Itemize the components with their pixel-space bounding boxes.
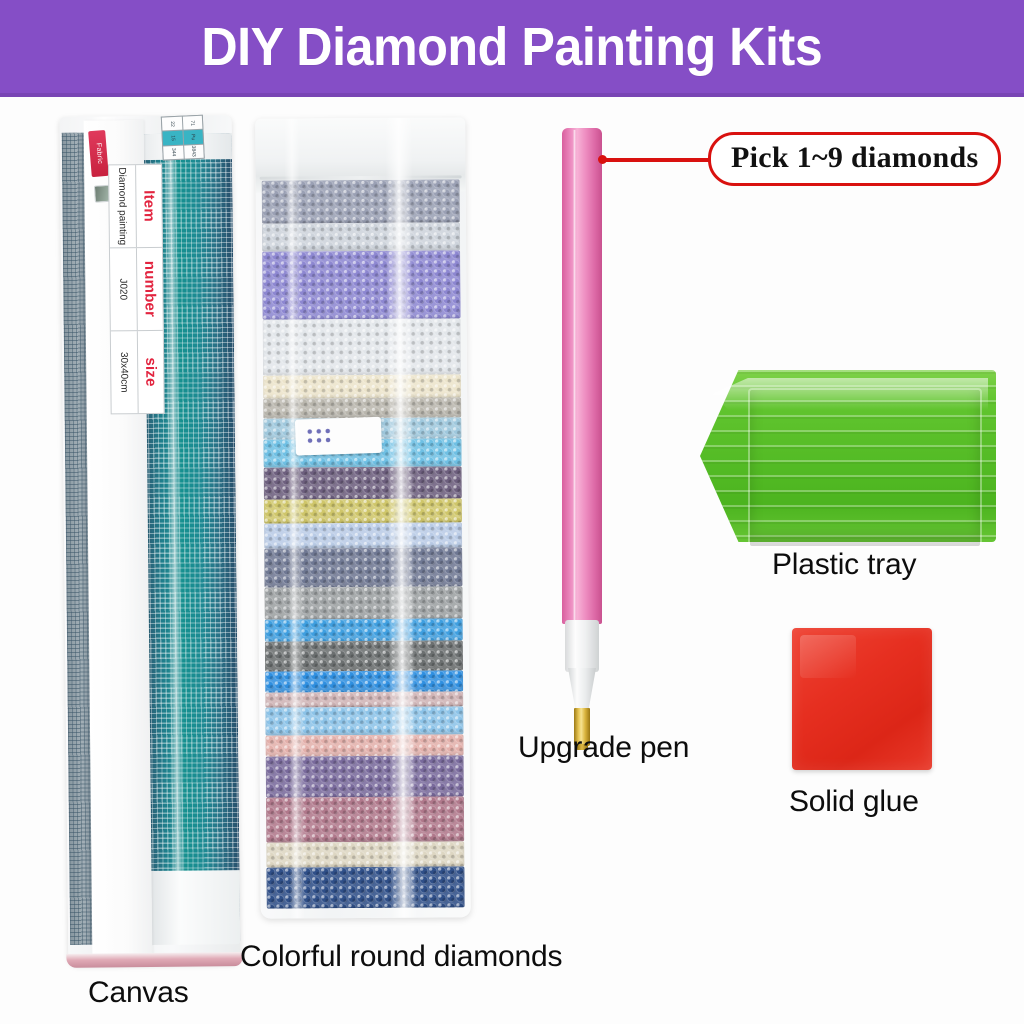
bead-row xyxy=(266,841,464,867)
product-canvas: Fabric 22 71 15 Pu 344 3843 Item Diamond… xyxy=(58,112,253,972)
bead-row xyxy=(265,641,463,672)
caption-canvas: Canvas xyxy=(88,976,189,1010)
bead-row xyxy=(266,735,464,757)
product-tray xyxy=(700,370,1000,570)
product-infographic: DIY Diamond Painting Kits Fabric 22 71 1… xyxy=(0,0,1024,1024)
callout-label: Pick 1~9 diamonds xyxy=(731,141,978,174)
color-chart-cell: Pu xyxy=(183,130,203,144)
caption-glue: Solid glue xyxy=(789,785,919,819)
caption-diamonds: Colorful round diamonds xyxy=(240,940,562,974)
bead-row xyxy=(264,547,462,588)
spec-value: 30x40cm xyxy=(111,331,138,413)
page-title: DIY Diamond Painting Kits xyxy=(202,16,823,78)
color-chart-cell: 3843 xyxy=(184,144,204,158)
sleeve-foot xyxy=(66,952,242,968)
product-diamonds xyxy=(258,118,478,938)
spec-column-item: Item Diamond painting xyxy=(109,165,162,249)
bead-row xyxy=(265,691,463,707)
color-chart-cell: 15 xyxy=(163,131,183,145)
pen-collar xyxy=(565,620,599,672)
tray-inner-edge xyxy=(748,388,982,548)
canvas-spec-table: Item Diamond painting number J020 size 3… xyxy=(108,164,165,415)
bead-row xyxy=(265,706,463,736)
tray-highlight xyxy=(712,378,988,410)
pen-barrel xyxy=(562,128,602,624)
header-banner: DIY Diamond Painting Kits xyxy=(0,0,1024,97)
spec-key: size xyxy=(137,331,164,413)
bead-row xyxy=(264,498,462,524)
bead-row xyxy=(262,251,460,320)
brand-tab: Fabric xyxy=(88,130,109,177)
callout-leader-line xyxy=(604,158,716,162)
bead-row xyxy=(266,755,464,798)
color-chart-cell: 71 xyxy=(182,116,202,130)
bead-row xyxy=(265,618,463,642)
spec-key: Item xyxy=(135,165,162,247)
canvas-bottom-margin xyxy=(147,870,240,945)
bead-row xyxy=(263,397,461,419)
canvas-roll: Fabric 22 71 15 Pu 344 3843 Item Diamond… xyxy=(54,111,248,968)
bead-rows-container xyxy=(262,179,465,908)
color-chart-grid: 22 71 15 Pu 344 3843 xyxy=(161,115,205,161)
glue-square xyxy=(792,628,932,770)
spec-value: Diamond painting xyxy=(109,165,136,247)
color-chart-cell: 22 xyxy=(162,117,182,131)
bead-row xyxy=(266,866,464,909)
bead-row xyxy=(264,466,462,499)
bead-row xyxy=(262,179,460,224)
callout-badge: Pick 1~9 diamonds xyxy=(708,132,1001,186)
bead-row xyxy=(264,523,462,549)
bead-row xyxy=(265,671,463,693)
brand-tab-label: Fabric xyxy=(94,143,103,165)
color-chart-cell: 344 xyxy=(163,145,183,159)
spec-value: J020 xyxy=(110,248,137,330)
diamonds-bag xyxy=(255,117,471,918)
pen-cone xyxy=(568,668,596,712)
caption-pen: Upgrade pen xyxy=(518,731,689,765)
bead-sample-tag xyxy=(295,417,382,456)
spec-column-size: size 30x40cm xyxy=(111,331,164,414)
caption-tray: Plastic tray xyxy=(772,548,916,582)
bead-row xyxy=(263,318,461,376)
bead-row xyxy=(264,586,462,619)
bead-row xyxy=(266,796,464,842)
spec-key: number xyxy=(136,248,163,330)
bead-row xyxy=(263,374,461,398)
spec-column-number: number J020 xyxy=(110,248,163,332)
bead-row xyxy=(262,222,460,252)
